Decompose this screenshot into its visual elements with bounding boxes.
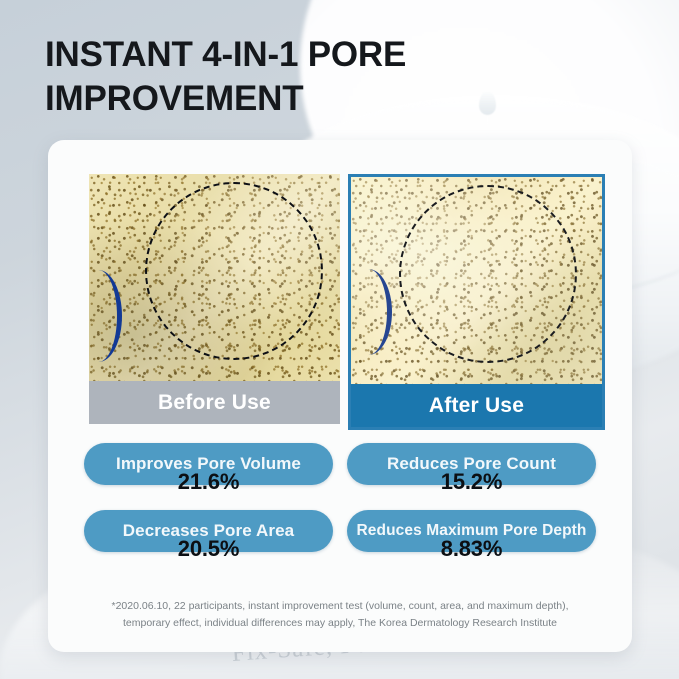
- results-card: Before Use After Use Improves Pore Volum…: [48, 140, 632, 652]
- benefit-item: Reduces Maximum Pore Depth 8.83%: [347, 510, 596, 552]
- benefit-percentage: 8.83%: [347, 536, 596, 562]
- after-pore-region-circle: [399, 185, 577, 363]
- benefit-item: Reduces Pore Count 15.2%: [347, 443, 596, 485]
- before-after-comparison: Before Use After Use: [89, 174, 605, 430]
- benefit-percentage: 15.2%: [347, 469, 596, 495]
- benefit-row: Improves Pore Volume 21.6% Reduces Pore …: [84, 443, 596, 485]
- water-droplet-icon: [479, 91, 496, 115]
- footnote-line-1: *2020.06.10, 22 participants, instant im…: [82, 598, 598, 615]
- page-title-line-1: INSTANT 4-IN-1 PORE: [45, 33, 475, 77]
- benefit-row: Decreases Pore Area 20.5% Reduces Maximu…: [84, 510, 596, 552]
- benefit-percentage: 21.6%: [84, 469, 333, 495]
- benefit-item: Decreases Pore Area 20.5%: [84, 510, 333, 552]
- after-label: After Use: [351, 384, 602, 427]
- before-skin-replica-image: [89, 174, 340, 381]
- benefit-percentage: 20.5%: [84, 536, 333, 562]
- before-label: Before Use: [89, 381, 340, 424]
- benefits-list: Improves Pore Volume 21.6% Reduces Pore …: [84, 443, 596, 577]
- page-title: INSTANT 4-IN-1 PORE IMPROVEMENT: [45, 33, 475, 121]
- page-title-line-2: IMPROVEMENT: [45, 77, 475, 121]
- study-footnote: *2020.06.10, 22 participants, instant im…: [82, 598, 598, 633]
- infographic-page: Derma Pore Pad Fix-Safe, Feel the Differ…: [0, 0, 679, 679]
- before-pore-region-circle: [145, 182, 323, 360]
- after-skin-replica-image: [351, 177, 602, 384]
- benefit-item: Improves Pore Volume 21.6%: [84, 443, 333, 485]
- before-photo-panel: Before Use: [89, 174, 340, 430]
- footnote-line-2: temporary effect, individual differences…: [82, 615, 598, 632]
- after-photo-panel: After Use: [348, 174, 605, 430]
